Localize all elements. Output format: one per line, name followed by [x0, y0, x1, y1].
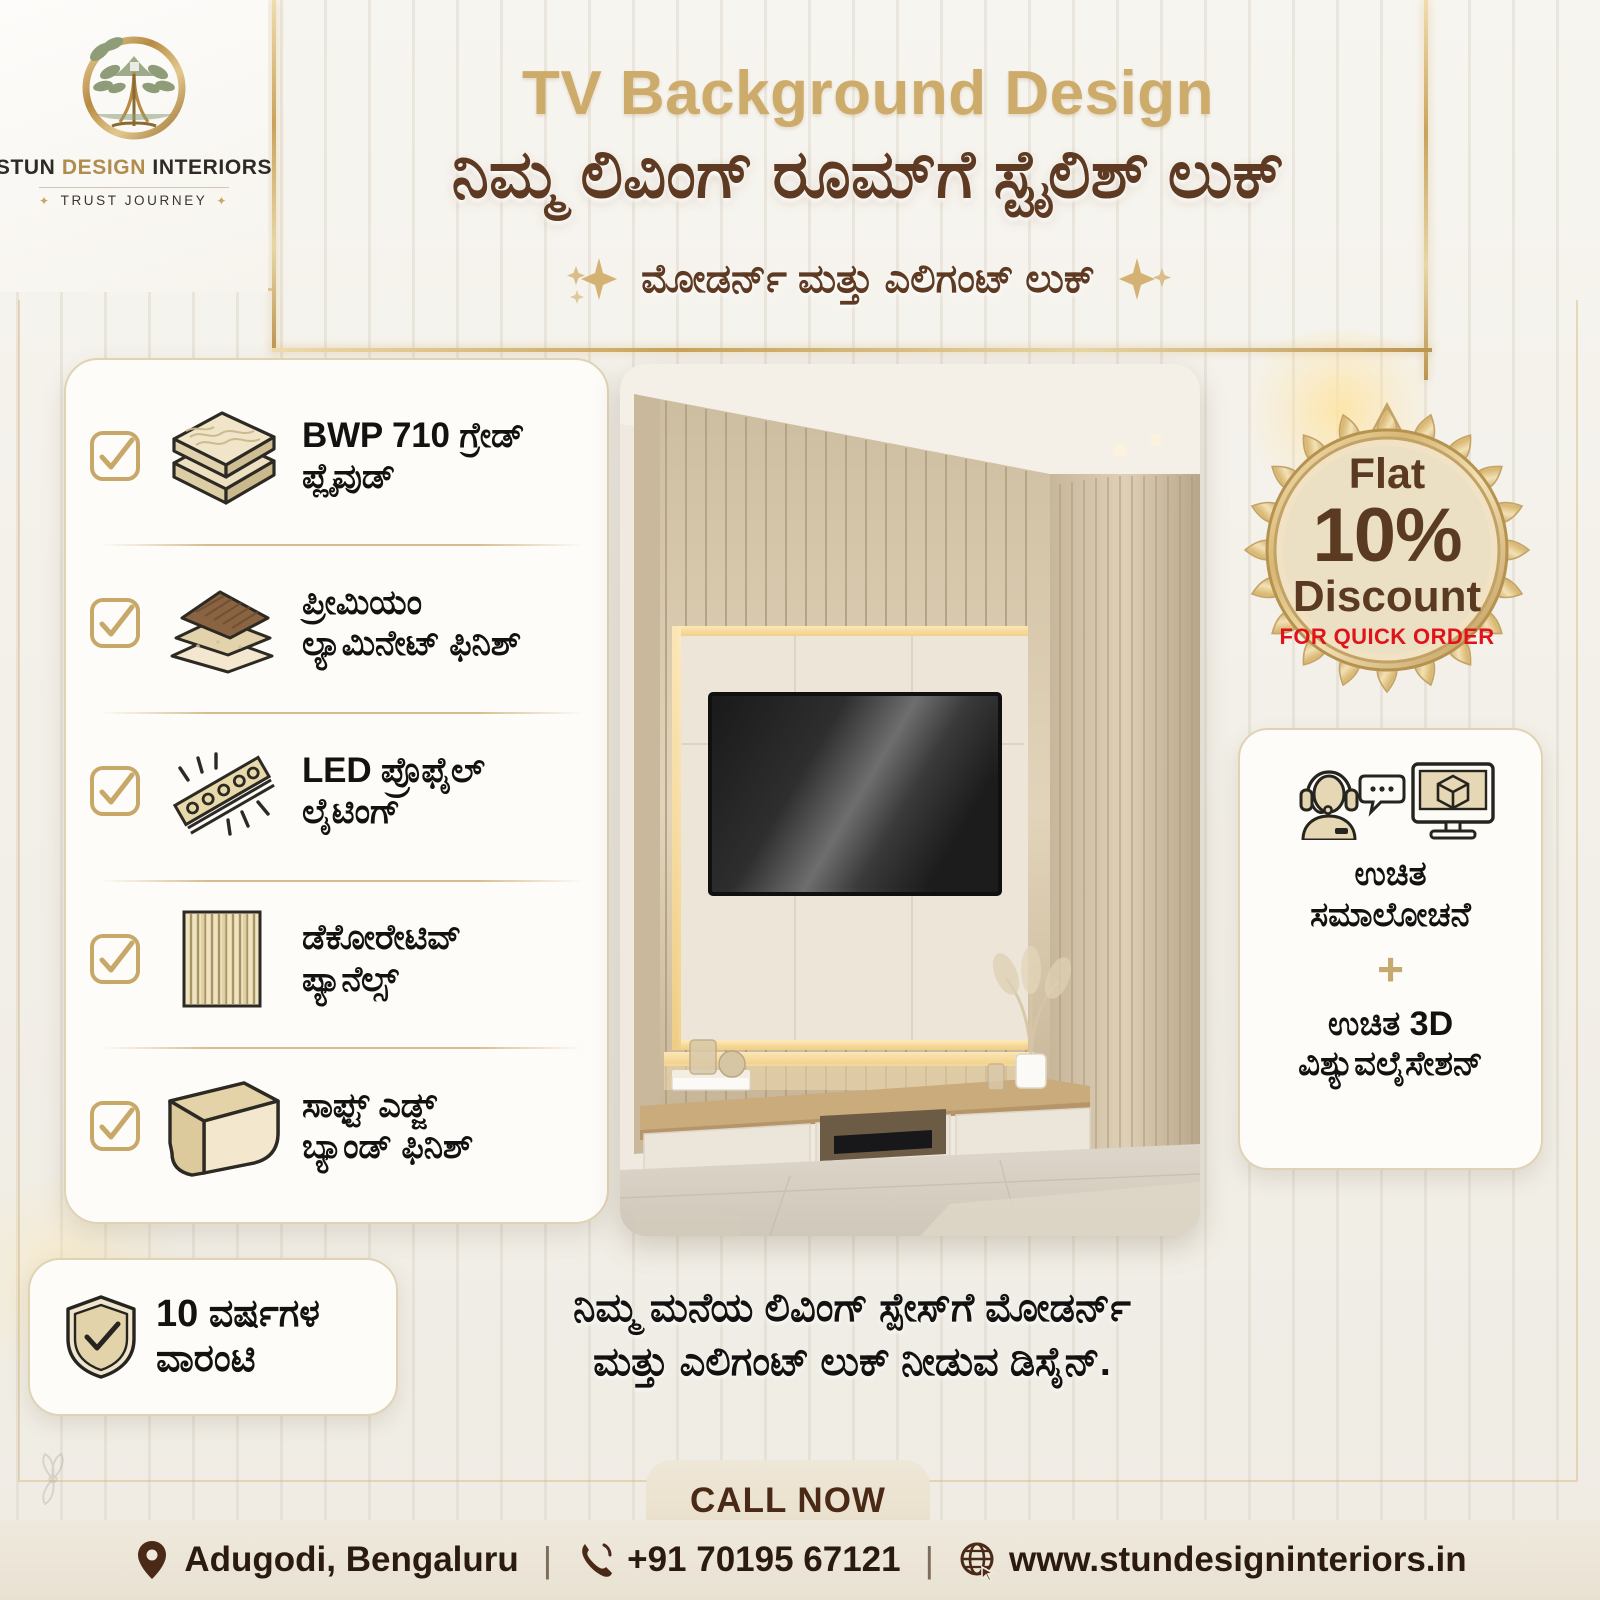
- consult-line-1: ಉಚಿತ: [1354, 854, 1426, 895]
- consult-line-3: ಉಚಿತ 3D: [1328, 1004, 1453, 1045]
- feature-label-5-line2: ಬ್ಯಾಂಡ್ ಫಿನಿಶ್: [302, 1126, 473, 1167]
- footer-separator-2: |: [925, 1539, 934, 1581]
- feature-label-1: BWP 710 ಗ್ರೇಡ್ ಪ್ಲೈವುಡ್: [302, 415, 524, 498]
- footer-phone-text: +91 70195 67121: [627, 1540, 900, 1580]
- discount-flat-label: Flat: [1349, 453, 1425, 496]
- feature-label-5: ಸಾಫ್ಟ್ ಎಡ್ಜ್ ಬ್ಯಾಂಡ್ ಫಿನಿಶ್: [302, 1085, 473, 1168]
- feature-label-2-line1: ಪ್ರೀಮಿಯಂ: [302, 582, 521, 623]
- check-box-icon: [88, 429, 142, 483]
- feature-label-2-line2: ಲ್ಯಾಮಿನೇಟ್ ಫಿನಿಶ್: [302, 623, 521, 664]
- gold-line-left-vertical: [272, 0, 276, 352]
- feature-row-4: ಡೆಕೋರೇಟಿವ್ ಪ್ಯಾನೆಲ್ಸ್: [88, 882, 589, 1036]
- consult-line-2: ಸಮಾಲೋಚನೆ: [1310, 895, 1471, 936]
- sparkle-star-icon-left: [563, 252, 619, 306]
- support-agent-headset-icon: [1301, 772, 1357, 840]
- discount-text-group: Flat 10% Discount FOR QUICK ORDER: [1232, 400, 1542, 700]
- brand-logo-panel: STUN DESIGN INTERIORS ✦ TRUST JOURNEY ✦: [0, 0, 268, 292]
- feature-row-1: BWP 710 ಗ್ರೇಡ್ ಪ್ಲೈವುಡ್: [88, 379, 589, 533]
- tagline-line-1: ನಿಮ್ಮ ಮನೆಯ ಲಿವಿಂಗ್ ಸ್ಪೇಸ್‌ಗೆ ಮೋಡರ್ನ್: [452, 1282, 1252, 1336]
- feature-label-2: ಪ್ರೀಮಿಯಂ ಲ್ಯಾಮಿನೇಟ್ ಫಿನಿಶ್: [302, 582, 521, 665]
- tagline-line-2: ಮತ್ತು ಎಲಿಗಂಟ್ ಲುಕ್ ನೀಡುವ ಡಿಸೈನ್.: [452, 1336, 1252, 1390]
- fluted-panel-icon: [158, 904, 286, 1014]
- logo-divider: [39, 187, 229, 188]
- warranty-text: 10 ವರ್ಷಗಳ ವಾರಂಟಿ: [156, 1292, 320, 1382]
- feature-label-4-line1: ಡೆಕೋರೇಟಿವ್: [302, 917, 461, 958]
- laminate-sheets-icon: [158, 568, 286, 678]
- tree-circle-logo-icon: [70, 22, 198, 150]
- warranty-line-2: ವಾರಂಟಿ: [156, 1337, 320, 1382]
- warranty-badge: 10 ವರ್ಷಗಳ ವಾರಂಟಿ: [28, 1258, 398, 1416]
- features-card: BWP 710 ಗ್ರೇಡ್ ಪ್ಲೈವುಡ್: [64, 358, 609, 1224]
- footer-website-text: www.stundesigninteriors.in: [1009, 1540, 1467, 1580]
- page-title-english: TV Background Design: [278, 58, 1458, 129]
- feature-label-3-line2: ಲೈಟಿಂಗ್: [302, 791, 485, 832]
- monitor-3d-cube-icon: [1413, 764, 1493, 838]
- brand-name: STUN DESIGN INTERIORS: [0, 156, 272, 180]
- feature-label-1-line1: BWP 710 ಗ್ರೇಡ್: [302, 415, 524, 456]
- plywood-stack-icon: [158, 401, 286, 511]
- poster-canvas: STUN DESIGN INTERIORS ✦ TRUST JOURNEY ✦ …: [0, 0, 1600, 1600]
- gold-line-left-margin: [18, 300, 20, 1480]
- feature-label-1-line2: ಪ್ಲೈವುಡ್: [302, 456, 524, 497]
- feature-label-5-line1: ಸಾಫ್ಟ್ ಎಡ್ಜ್: [302, 1085, 473, 1126]
- discount-condition: FOR QUICK ORDER: [1280, 626, 1495, 648]
- leaf-ornament-icon: [24, 1448, 82, 1510]
- footer-phone[interactable]: +91 70195 67121: [576, 1539, 900, 1581]
- footer-website[interactable]: www.stundesigninteriors.in: [958, 1539, 1467, 1581]
- diamond-icon-right: ✦: [216, 194, 229, 208]
- globe-icon: [958, 1539, 996, 1581]
- consult-plus-symbol: +: [1377, 946, 1404, 992]
- discount-percent: 10%: [1312, 498, 1461, 574]
- contact-footer-bar: Adugodi, Bengaluru | +91 70195 67121 | w…: [0, 1520, 1600, 1600]
- subtitle-kannada: ಮೋಡರ್ನ್ ಮತ್ತು ಎಲಿಗಂಟ್ ಲುಕ್: [641, 257, 1095, 302]
- feature-label-3: LED ಪ್ರೊಫೈಲ್ ಲೈಟಿಂಗ್: [302, 750, 485, 833]
- feature-label-4-line2: ಪ್ಯಾನೆಲ್ಸ್: [302, 959, 461, 1000]
- page-title-kannada: ನಿಮ್ಮ ಲಿವಿಂಗ್ ರೂಮ್‌ಗೆ ಸ್ಟೈಲಿಶ್ ಲುಕ್: [278, 140, 1458, 210]
- consult-icons-group: [1283, 752, 1498, 840]
- gold-line-right-margin: [1576, 300, 1578, 1480]
- diamond-icon-left: ✦: [39, 194, 52, 208]
- map-pin-icon: [133, 1539, 171, 1581]
- consult-line-4: ವಿಶ್ಯುವಲೈಸೇಶನ್: [1298, 1044, 1483, 1085]
- check-box-icon: [88, 1099, 142, 1153]
- warranty-line-1: 10 ವರ್ಷಗಳ: [156, 1292, 320, 1337]
- shield-check-icon: [62, 1293, 140, 1381]
- led-strip-icon: [158, 736, 286, 846]
- soft-edge-band-icon: [158, 1071, 286, 1181]
- free-consultation-card: ಉಚಿತ ಸಮಾಲೋಚನೆ + ಉಚಿತ 3D ವಿಶ್ಯುವಲೈಸೇಶನ್: [1238, 728, 1543, 1170]
- discount-word: Discount: [1293, 575, 1481, 619]
- sparkle-star-icon-right: [1117, 252, 1173, 306]
- discount-badge: Flat 10% Discount FOR QUICK ORDER: [1232, 400, 1542, 700]
- tv-unit-photo: [620, 364, 1200, 1236]
- feature-row-2: ಪ್ರೀಮಿಯಂ ಲ್ಯಾಮಿನೇಟ್ ಫಿನಿಶ್: [88, 546, 589, 700]
- check-box-icon: [88, 764, 142, 818]
- header-block: TV Background Design ನಿಮ್ಮ ಲಿವಿಂಗ್ ರೂಮ್‌…: [278, 0, 1600, 352]
- chat-bubble-icon: [1360, 776, 1404, 812]
- phone-icon: [576, 1539, 614, 1581]
- feature-row-5: ಸಾಫ್ಟ್ ಎಡ್ಜ್ ಬ್ಯಾಂಡ್ ಫಿನಿಶ್: [88, 1049, 589, 1203]
- check-box-icon: [88, 596, 142, 650]
- bottom-tagline: ನಿಮ್ಮ ಮನೆಯ ಲಿವಿಂಗ್ ಸ್ಪೇಸ್‌ಗೆ ಮೋಡರ್ನ್ ಮತ್…: [452, 1282, 1252, 1389]
- check-box-icon: [88, 932, 142, 986]
- feature-row-3: LED ಪ್ರೊಫೈಲ್ ಲೈಟಿಂಗ್: [88, 714, 589, 868]
- brand-tagline: ✦ TRUST JOURNEY ✦: [39, 193, 229, 208]
- brand-tagline-text: TRUST JOURNEY: [61, 193, 208, 208]
- footer-location-text: Adugodi, Bengaluru: [184, 1540, 518, 1580]
- subtitle-row: ಮೋಡರ್ನ್ ಮತ್ತು ಎಲಿಗಂಟ್ ಲುಕ್: [278, 252, 1458, 306]
- footer-separator-1: |: [543, 1539, 552, 1581]
- feature-label-4: ಡೆಕೋರೇಟಿವ್ ಪ್ಯಾನೆಲ್ಸ್: [302, 917, 461, 1000]
- feature-label-3-line1: LED ಪ್ರೊಫೈಲ್: [302, 750, 485, 791]
- footer-location[interactable]: Adugodi, Bengaluru: [133, 1539, 518, 1581]
